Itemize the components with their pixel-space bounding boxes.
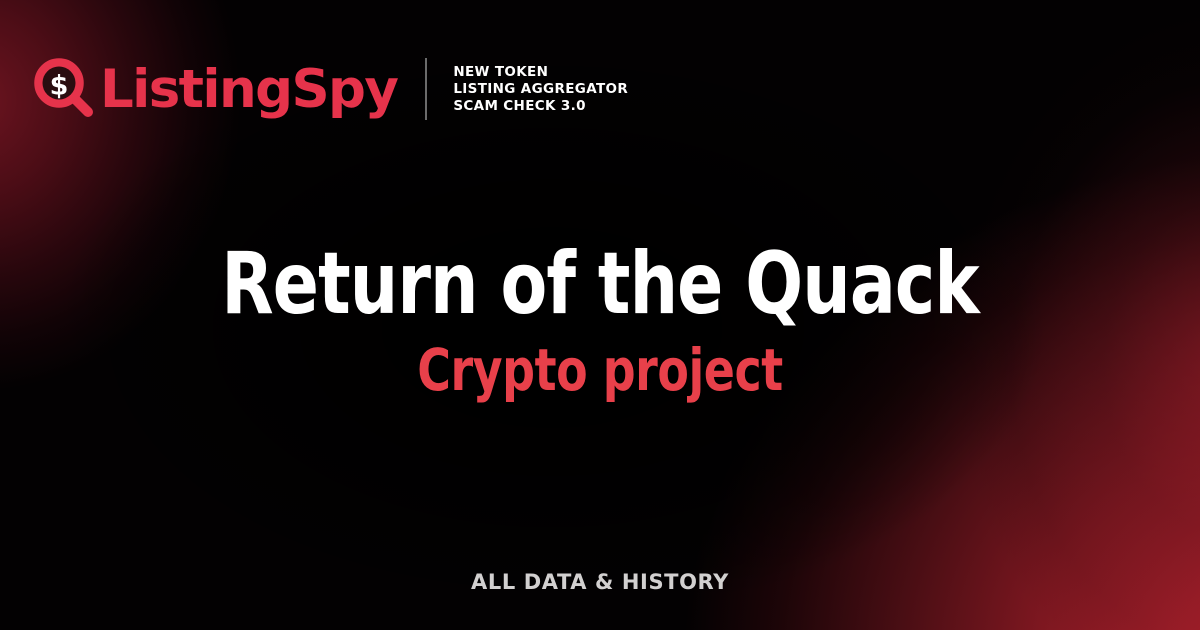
svg-text:$: $ [50, 71, 69, 102]
footer-note: ALL DATA & HISTORY [0, 570, 1200, 594]
brand-tagline: NEW TOKEN LISTING AGGREGATOR SCAM CHECK … [453, 64, 628, 115]
page-subtitle: Crypto project [72, 332, 1128, 404]
tagline-line-2: LISTING AGGREGATOR [453, 81, 628, 98]
tagline-line-3: SCAM CHECK 3.0 [453, 98, 628, 115]
brand-wordmark: ListingSpy [100, 63, 397, 116]
tagline-line-1: NEW TOKEN [453, 64, 628, 81]
brand-lockup: $ ListingSpy NEW TOKEN LISTING AGGREGATO… [34, 52, 628, 126]
brand-divider [425, 58, 427, 120]
magnifier-dollar-icon: $ [34, 58, 96, 120]
page-title: Return of the Quack [72, 236, 1128, 332]
hero-block: Return of the Quack Crypto project [0, 236, 1200, 404]
og-card: $ ListingSpy NEW TOKEN LISTING AGGREGATO… [0, 0, 1200, 630]
